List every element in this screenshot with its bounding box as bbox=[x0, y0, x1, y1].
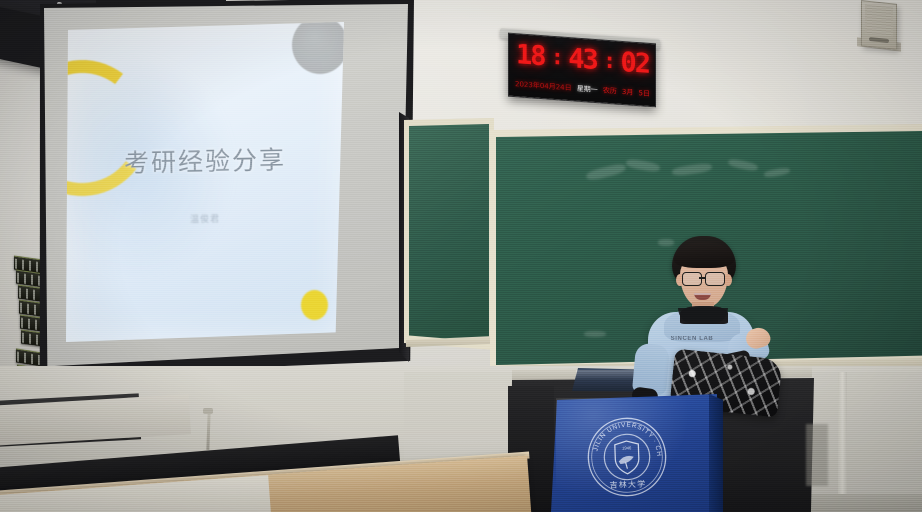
podium-right-edge bbox=[709, 394, 723, 512]
clock-date-row: 2023年04月24日 星期一 农历 3月 5日 bbox=[515, 77, 650, 101]
speaker-grille bbox=[865, 5, 893, 37]
slide-title: 考研经验分享 bbox=[66, 139, 344, 181]
clock-lunar-day: 5日 bbox=[638, 88, 649, 99]
slide-grey-circle-shape bbox=[292, 22, 344, 74]
glasses-bridge-icon bbox=[699, 277, 706, 279]
lecture-hall-photo: 考研经验分享 温俊君 18 : 43 : 02 2023年04月24日 星期一 … bbox=[0, 0, 922, 512]
svg-text:吉林大学: 吉林大学 bbox=[609, 479, 646, 490]
wall-speaker bbox=[861, 0, 897, 50]
jilin-university-seal: JILIN UNIVERSITY · CHINA 1946 吉林大学 bbox=[584, 414, 671, 501]
projected-slide: 考研经验分享 温俊君 bbox=[66, 22, 344, 342]
wall-pillar-edge bbox=[838, 372, 847, 512]
clock-weekday: 星期一 bbox=[577, 84, 598, 96]
slide-yellow-circle-shape bbox=[301, 290, 328, 320]
svg-text:JILIN UNIVERSITY · CHINA: JILIN UNIVERSITY · CHINA bbox=[584, 414, 663, 460]
speaker-port bbox=[869, 37, 889, 43]
clock-separator-2: : bbox=[603, 48, 614, 74]
glasses-lens-left-icon bbox=[682, 272, 702, 286]
clock-separator-1: : bbox=[551, 44, 562, 70]
blackboard-left-panel bbox=[409, 124, 489, 342]
clock-lunar-month: 3月 bbox=[622, 87, 633, 98]
svg-text:1946: 1946 bbox=[622, 445, 632, 450]
clock-date-text: 2023年04月24日 bbox=[515, 79, 572, 93]
clock-minutes: 43 bbox=[568, 42, 597, 75]
glasses-lens-right-icon bbox=[705, 272, 725, 286]
digital-wall-clock: 18 : 43 : 02 2023年04月24日 星期一 农历 3月 5日 bbox=[508, 33, 656, 108]
hoodie-chest-text: SINCEN LAB bbox=[656, 336, 728, 342]
clock-seconds: 02 bbox=[620, 46, 649, 79]
clock-time-display: 18 : 43 : 02 bbox=[516, 38, 649, 80]
foreground-pole-cap bbox=[203, 408, 213, 414]
clock-lunar-label: 农历 bbox=[603, 86, 617, 97]
desk-side-gap bbox=[806, 424, 828, 486]
presenter-ear-right bbox=[724, 274, 732, 286]
presenter: SINCEN LAB bbox=[628, 236, 776, 396]
clock-hours: 18 bbox=[516, 39, 545, 72]
